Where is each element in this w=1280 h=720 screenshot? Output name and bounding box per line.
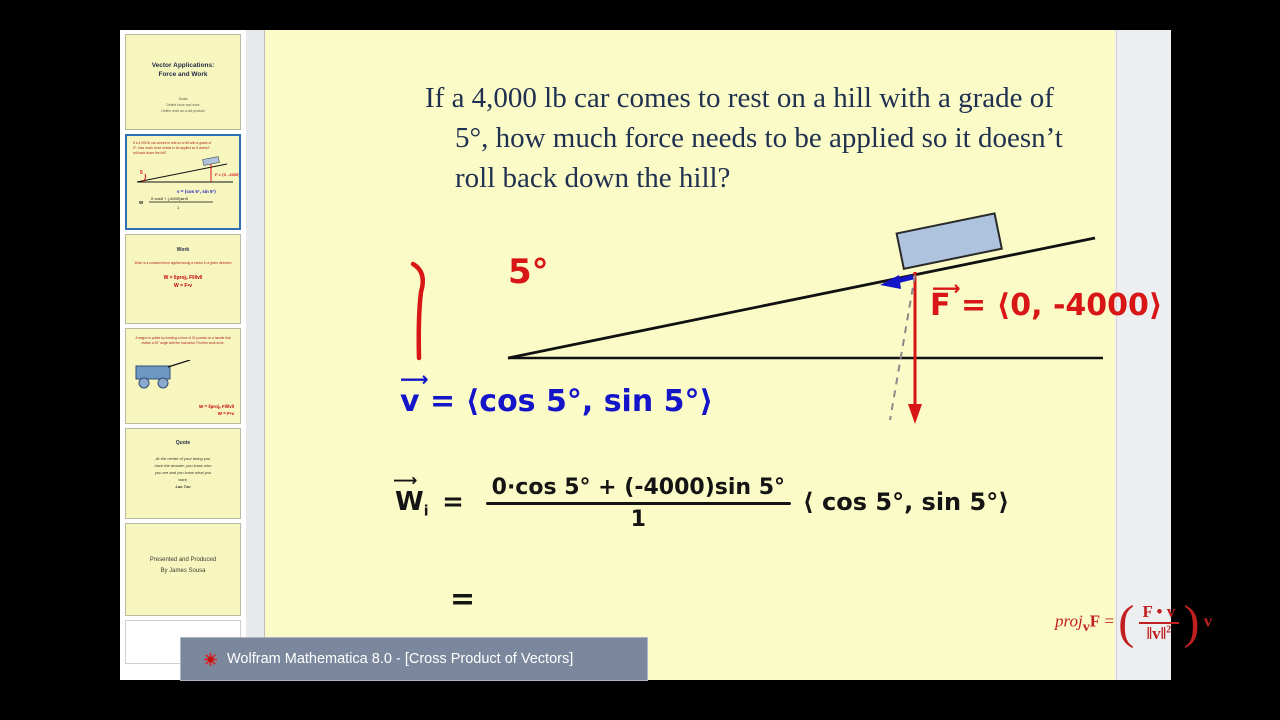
mathematica-spikey-icon xyxy=(203,652,218,667)
work-numerator: 0·cos 5° + (-4000)sin 5° xyxy=(486,475,791,502)
proj-equals: = xyxy=(1104,612,1114,631)
svg-text:W: W xyxy=(139,200,144,205)
svg-text:1: 1 xyxy=(177,205,180,210)
slide6-line1: Presented and Produced xyxy=(150,557,216,563)
proj-trailing-vector: v xyxy=(1204,612,1213,631)
slide4-formula-1: W = ‖projᵥ F‖‖v‖ xyxy=(199,404,234,409)
slide3-formula-2: W = F•v xyxy=(174,283,192,289)
sidebar-slide-4[interactable]: A wagon is pulled by exerting a force of… xyxy=(125,328,241,424)
taskbar-window-button[interactable]: Wolfram Mathematica 8.0 - [Cross Product… xyxy=(180,637,648,681)
proj-denominator-wrap: ‖v‖2 xyxy=(1139,624,1180,644)
slide-thumbnail-sidebar[interactable]: Vector Applications: Force and Work Goal… xyxy=(120,30,247,680)
proj-text: proj xyxy=(1055,612,1083,631)
w-subscript: i xyxy=(424,504,429,520)
unit-vector-equation: ⟶ v = ⟨cos 5°, sin 5°⟩ xyxy=(400,384,713,419)
work-denominator: 1 xyxy=(486,505,791,532)
slide-canvas[interactable]: If a 4,000 lb car comes to rest on a hil… xyxy=(265,30,1115,680)
slide5-author: Lao Tzu xyxy=(175,484,190,489)
presentation-window: Vector Applications: Force and Work Goal… xyxy=(120,30,1170,680)
v-vector-arrow: ⟶ xyxy=(400,367,429,391)
slide2-ink-F: F = ⟨0, -4000⟩ xyxy=(215,172,240,177)
v-equation-text: v = ⟨cos 5°, sin 5°⟩ xyxy=(400,384,713,419)
slide5-body-1: At the center of your being you xyxy=(156,456,210,461)
question-line-2: 5°, how much force needs to be applied s… xyxy=(455,118,1065,158)
proj-subscript: v xyxy=(1083,619,1090,635)
svg-text:0·cos5 + (-4000)sin5: 0·cos5 + (-4000)sin5 xyxy=(151,196,189,201)
result-equals-sign: = xyxy=(450,582,475,617)
sidebar-slide-6[interactable]: Presented and Produced By James Sousa xyxy=(125,523,241,616)
slide2-body-line1: If a 4,000 lb car comes to rest on a hil… xyxy=(133,141,211,145)
force-label-text: F = ⟨0, -4000⟩ xyxy=(930,288,1163,323)
proj-numerator: F • v xyxy=(1139,602,1180,622)
work-fraction: 0·cos 5° + (-4000)sin 5° 1 xyxy=(486,475,791,532)
force-label: ⟶ F = ⟨0, -4000⟩ xyxy=(930,288,1163,323)
sidebar-gutter xyxy=(246,30,265,680)
right-pane xyxy=(1116,30,1171,680)
projection-formula: projvF = ( F • v ‖v‖2 ) v xyxy=(1055,602,1212,644)
work-projection-equation: ⟶ Wi = 0·cos 5° + (-4000)sin 5° 1 ⟨ cos … xyxy=(395,475,1009,532)
left-paren: ( xyxy=(1118,596,1134,649)
slide-question-text: If a 4,000 lb car comes to rest on a hil… xyxy=(425,78,1065,198)
slide5-body-2: have the answer; you know who xyxy=(155,463,212,468)
angle-label-5deg: 5° xyxy=(508,252,549,292)
slide1-title-line1: Vector Applications: xyxy=(152,62,215,69)
w-label: W xyxy=(395,487,424,517)
slide2-body-line2: 5°, how much force needs to be applied s… xyxy=(133,146,209,150)
proj-argument: F xyxy=(1090,612,1100,631)
w-equals: = xyxy=(436,487,478,517)
sidebar-slide-5[interactable]: Quote At the center of your being you ha… xyxy=(125,428,241,519)
proj-fraction: F • v ‖v‖2 xyxy=(1139,602,1180,644)
w-vector-arrow: ⟶ xyxy=(393,471,417,491)
right-paren: ) xyxy=(1183,596,1199,649)
force-arrow-red xyxy=(908,272,922,424)
slide2-ink-v: v = ⟨cos 5°, sin 5°⟩ xyxy=(177,189,216,194)
slide5-body-3: you are and you know what you xyxy=(155,470,211,475)
taskbar-app-label: Wolfram Mathematica 8.0 - [Cross Product… xyxy=(227,651,573,667)
work-unit-vector: ⟨ cos 5°, sin 5°⟩ xyxy=(799,488,1009,516)
svg-text:5: 5 xyxy=(140,170,143,176)
screen: Vector Applications: Force and Work Goal… xyxy=(0,0,1280,720)
slide1-sub-line3: Define work as a dot product xyxy=(161,109,204,113)
slide1-sub-line1: Goals xyxy=(179,97,188,101)
slide6-line2: By James Sousa xyxy=(160,568,205,574)
slide5-body-4: want. xyxy=(178,477,188,482)
question-line-1: If a 4,000 lb car comes to rest on a hil… xyxy=(425,78,1065,118)
slide3-body: Work is a constant force applied along a… xyxy=(126,253,240,266)
sidebar-slide-1[interactable]: Vector Applications: Force and Work Goal… xyxy=(125,34,241,130)
sidebar-slide-3[interactable]: Work Work is a constant force applied al… xyxy=(125,234,241,324)
slide2-mini-diagram: 5 v = ⟨cos 5°, sin 5°⟩ F = ⟨0, -4000⟩ W … xyxy=(127,152,241,214)
slide4-formula-2: W = F•v xyxy=(218,411,234,416)
slide1-sub-line2: Define force and work xyxy=(167,103,200,107)
proj-exponent: 2 xyxy=(1166,624,1171,635)
slide3-formula-1: W = ‖projᵥ F‖‖v‖ xyxy=(164,275,203,281)
sidebar-slide-2[interactable]: If a 4,000 lb car comes to rest on a hil… xyxy=(125,134,241,230)
wagon-icon xyxy=(132,360,202,394)
force-vector-arrow: ⟶ xyxy=(932,276,961,300)
proj-denominator: ‖v‖ xyxy=(1147,624,1167,643)
slide1-title-line2: Force and Work xyxy=(158,71,207,78)
slide4-body: A wagon is pulled by exerting a force of… xyxy=(126,329,240,346)
